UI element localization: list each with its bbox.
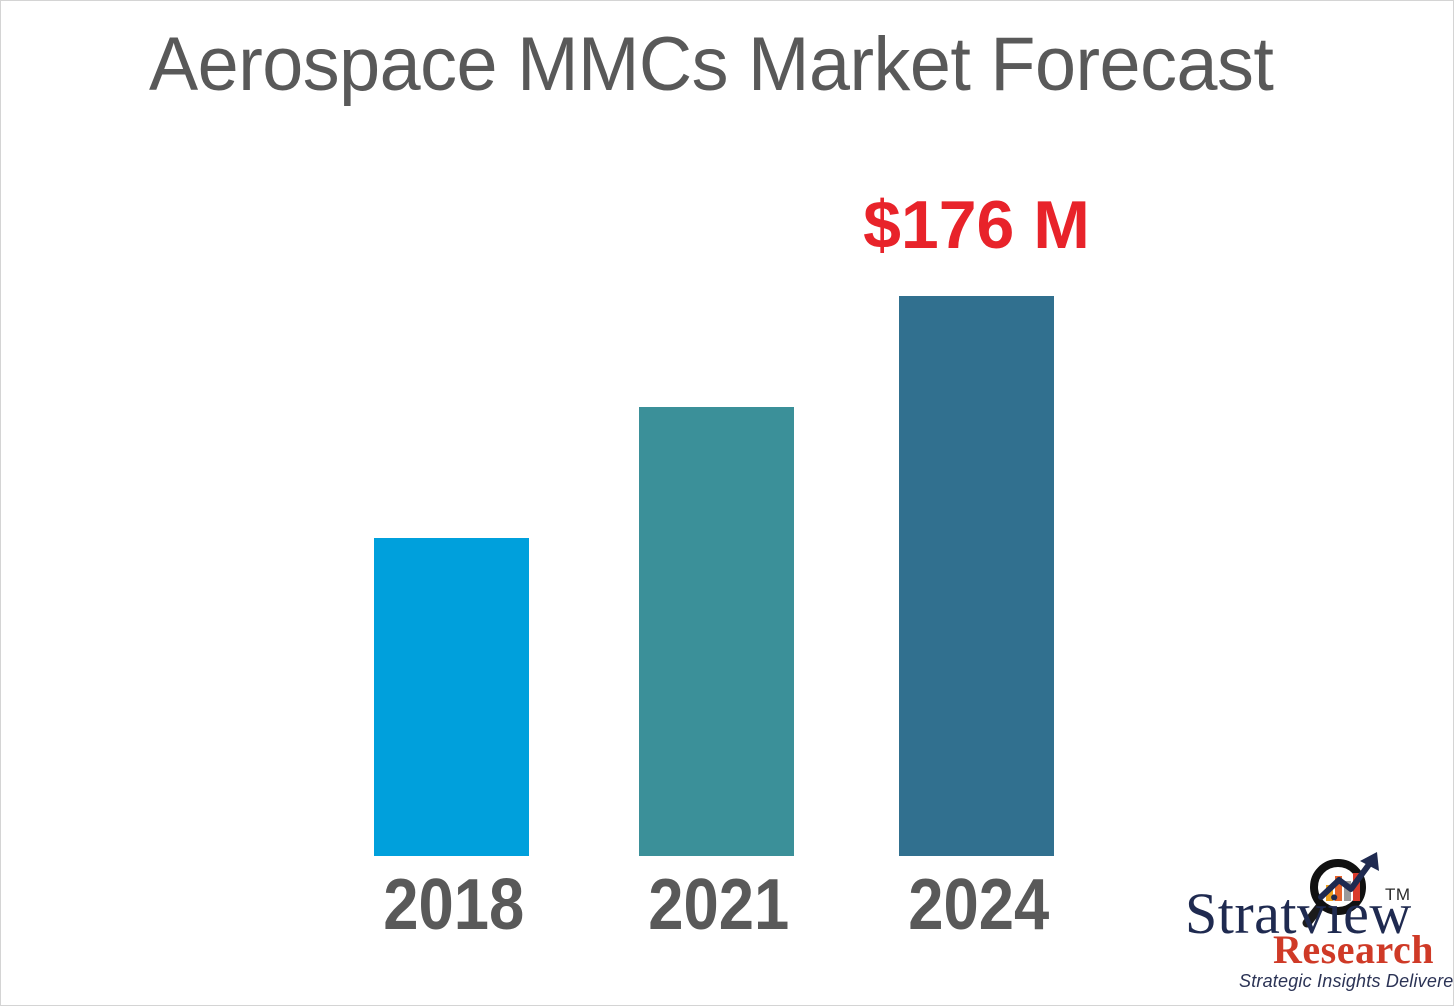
data-label-2024: $176 M (839, 187, 1114, 263)
bar-2018 (374, 538, 529, 856)
axis-label-2024: 2024 (908, 867, 1044, 943)
bar-2024 (899, 296, 1054, 856)
logo-brand-secondary: Research (1273, 929, 1434, 971)
logo-tagline: Strategic Insights Delivered (1239, 971, 1454, 991)
bar-2021 (639, 407, 794, 856)
axis-label-2021: 2021 (648, 867, 784, 943)
logo-trademark: TM (1385, 885, 1411, 905)
stratview-research-logo: Stratview TM Research Strategic Insights… (1181, 847, 1447, 995)
chart-canvas: Aerospace MMCs Market Forecast $176 M 20… (0, 0, 1454, 1006)
axis-label-2018: 2018 (383, 867, 519, 943)
